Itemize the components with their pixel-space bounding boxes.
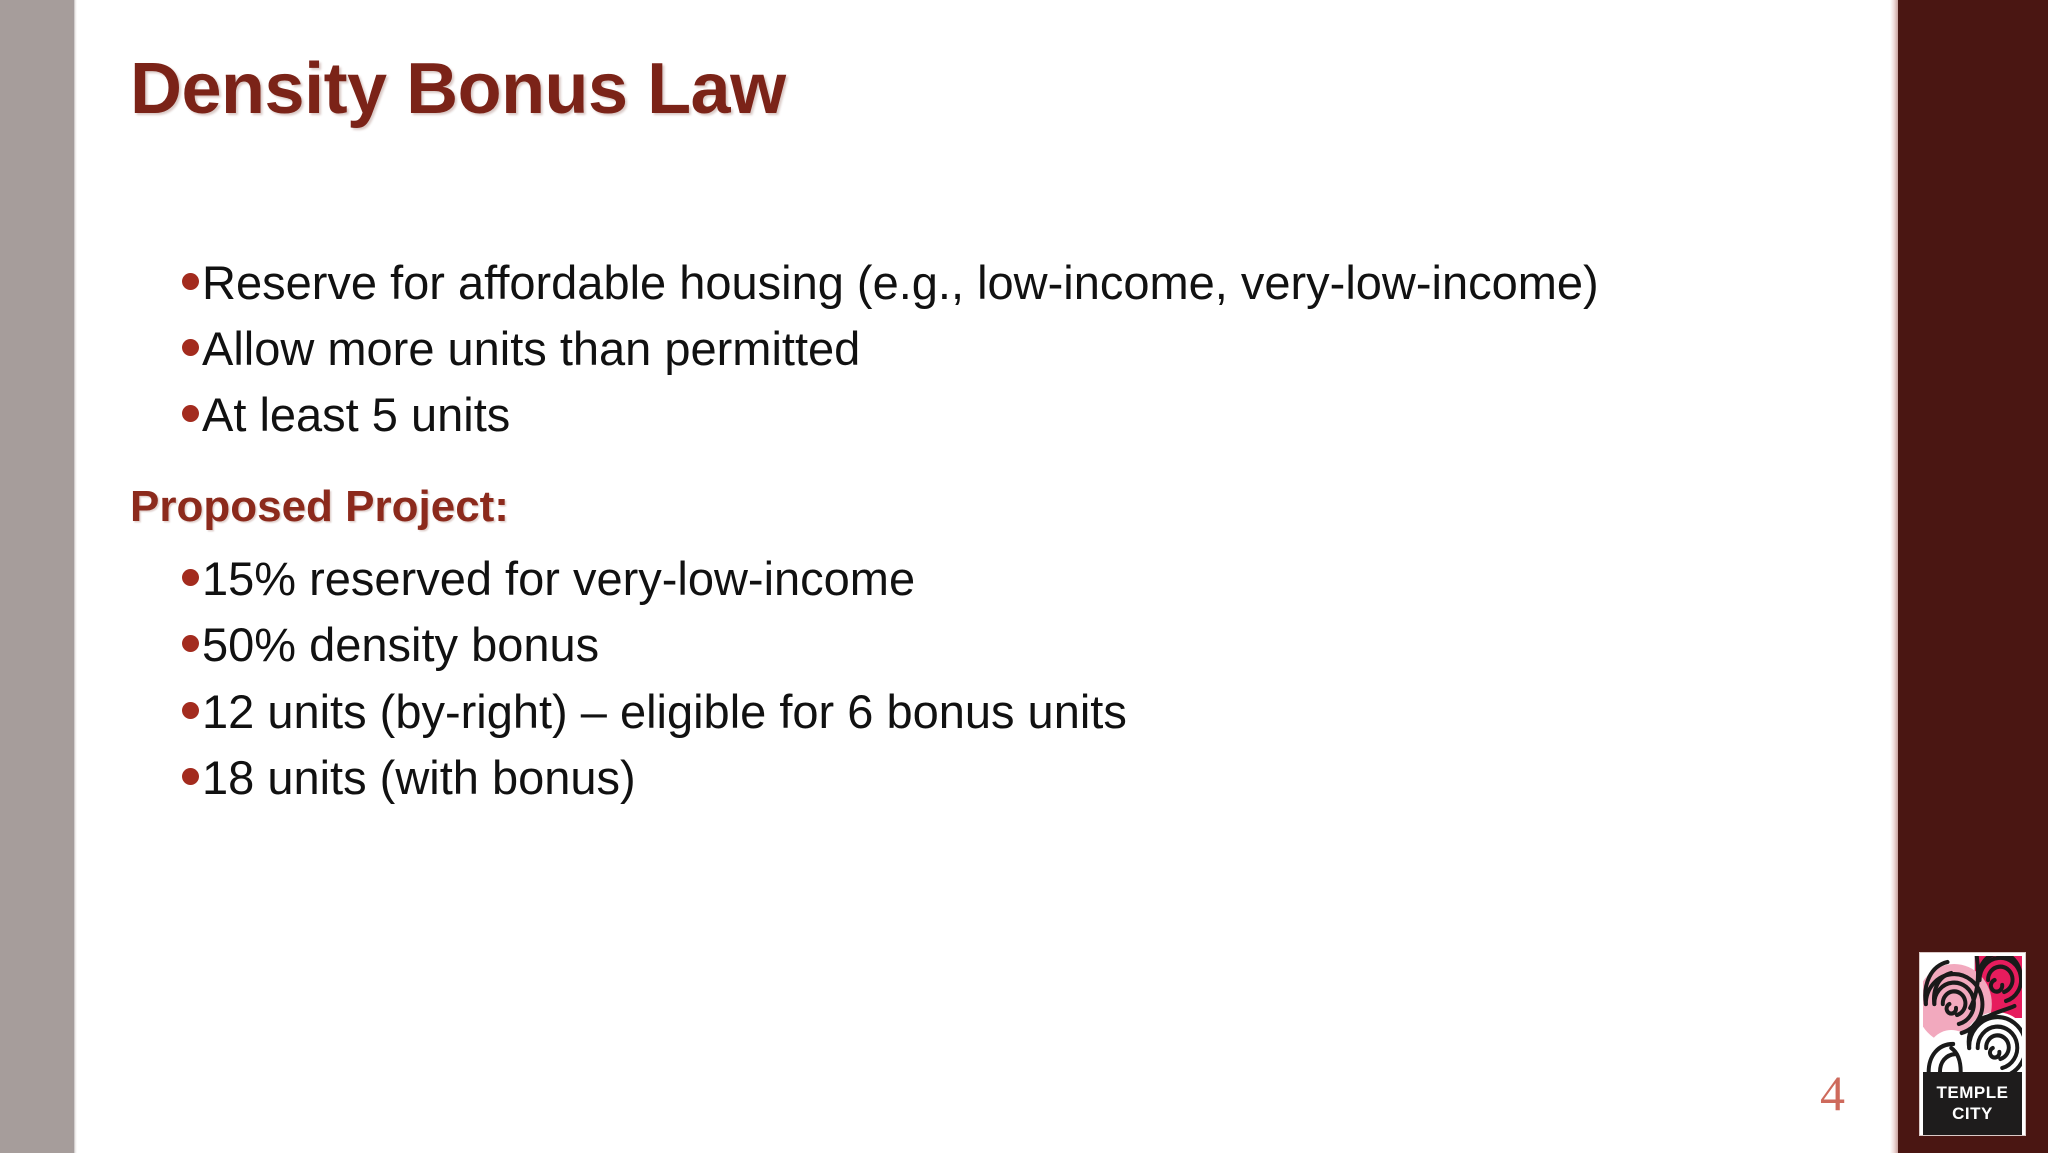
list-item: Reserve for affordable housing (e.g., lo… bbox=[182, 258, 1850, 307]
bullet-dot-icon bbox=[182, 405, 199, 422]
page-number: 4 bbox=[1820, 1068, 1845, 1118]
right-band-edge bbox=[1890, 0, 1898, 1153]
list-item: At least 5 units bbox=[182, 390, 1850, 439]
list-item-label: 50% density bonus bbox=[202, 620, 599, 669]
bullet-dot-icon bbox=[182, 702, 199, 719]
logo-wordmark: TEMPLE CITY bbox=[1923, 1072, 2022, 1135]
list-item-label: At least 5 units bbox=[202, 390, 510, 439]
bullet-dot-icon bbox=[182, 339, 199, 356]
list-item: 12 units (by-right) – eligible for 6 bon… bbox=[182, 687, 1850, 736]
list-item-label: 15% reserved for very-low-income bbox=[202, 554, 915, 603]
rose-art-icon bbox=[1923, 956, 2022, 1072]
page-title: Density Bonus Law bbox=[130, 52, 786, 128]
bullet-list-proposed-project: 15% reserved for very-low-income 50% den… bbox=[182, 554, 1850, 801]
left-band-edge bbox=[73, 0, 77, 1153]
list-item: 18 units (with bonus) bbox=[182, 753, 1850, 802]
bullet-list-overview: Reserve for affordable housing (e.g., lo… bbox=[182, 258, 1850, 439]
bullet-dot-icon bbox=[182, 635, 199, 652]
list-item-label: Reserve for affordable housing (e.g., lo… bbox=[202, 258, 1599, 307]
logo-wordmark-line1: TEMPLE bbox=[1937, 1083, 2009, 1103]
list-item: Allow more units than permitted bbox=[182, 324, 1850, 373]
slide-body: Reserve for affordable housing (e.g., lo… bbox=[130, 258, 1850, 802]
list-item-label: Allow more units than permitted bbox=[202, 324, 860, 373]
bullet-dot-icon bbox=[182, 569, 199, 586]
list-item: 15% reserved for very-low-income bbox=[182, 554, 1850, 603]
bullet-dot-icon bbox=[182, 768, 199, 785]
section-heading-proposed-project: Proposed Project: bbox=[130, 482, 1850, 532]
left-decorative-band bbox=[0, 0, 73, 1153]
bullet-dot-icon bbox=[182, 273, 199, 290]
list-item-label: 18 units (with bonus) bbox=[202, 753, 636, 802]
list-item: 50% density bonus bbox=[182, 620, 1850, 669]
list-item-label: 12 units (by-right) – eligible for 6 bon… bbox=[202, 687, 1127, 736]
presentation-slide: Density Bonus Law Reserve for affordable… bbox=[0, 0, 2048, 1153]
logo-wordmark-line2: CITY bbox=[1952, 1104, 1993, 1124]
temple-city-logo: TEMPLE CITY bbox=[1920, 953, 2025, 1135]
